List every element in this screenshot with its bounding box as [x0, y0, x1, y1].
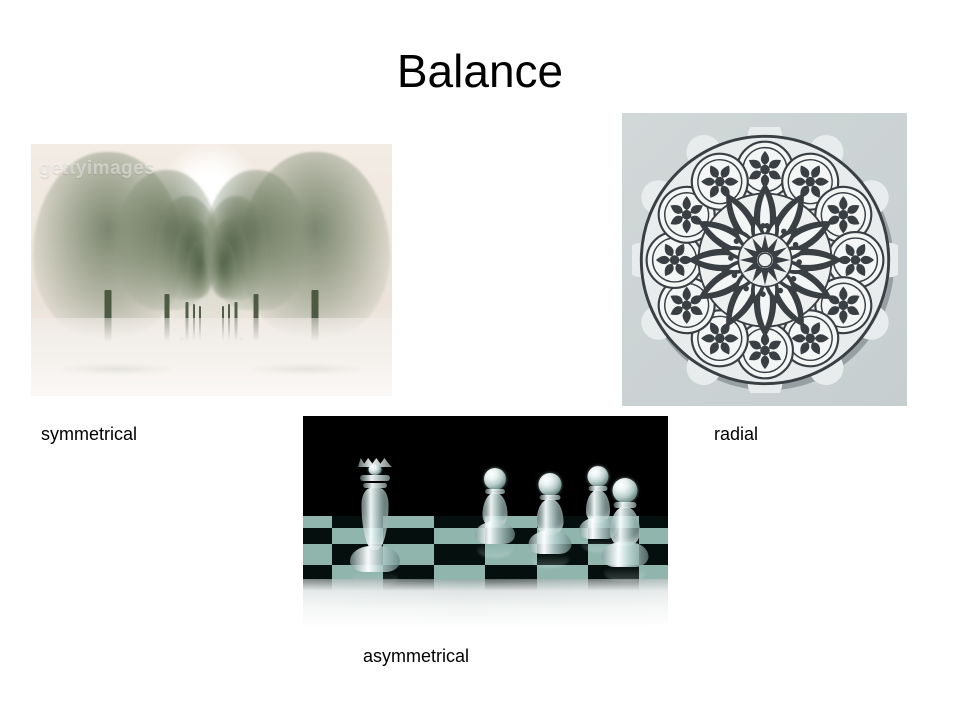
mandala-icon — [632, 127, 898, 393]
snow-ground — [31, 318, 392, 396]
caption-radial: radial — [714, 424, 758, 445]
slide-canvas: Balance — [0, 0, 960, 720]
page-title: Balance — [0, 46, 960, 97]
figure-symmetrical-image: gettyimages — [31, 144, 392, 396]
caption-asymmetrical: asymmetrical — [363, 646, 469, 667]
floor-sheen — [303, 579, 668, 625]
chess-piece-pawn — [526, 473, 574, 569]
center-star-icon — [738, 233, 791, 286]
caption-symmetrical: symmetrical — [41, 424, 137, 445]
figure-asymmetrical-image — [303, 416, 668, 625]
chess-piece-pawn — [472, 468, 518, 560]
doily-artwork — [632, 127, 898, 393]
figure-radial-image — [622, 113, 907, 406]
chess-piece-pawn — [599, 478, 651, 582]
chess-piece-queen — [343, 458, 407, 586]
